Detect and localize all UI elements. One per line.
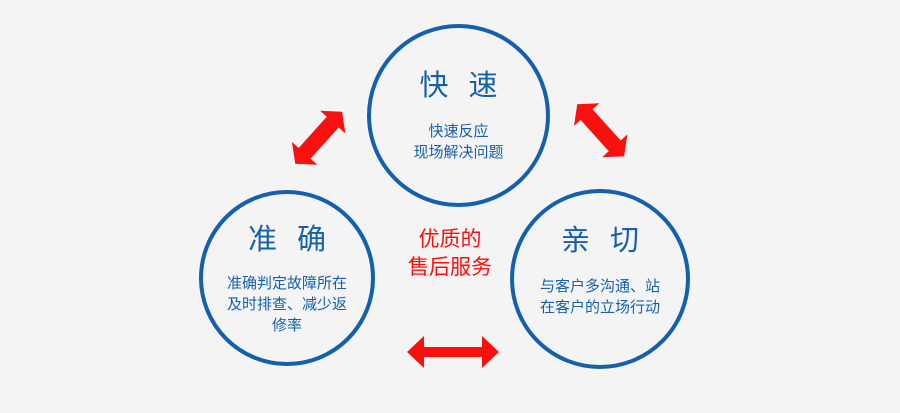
double-arrow-diagonal-up-right-icon: [286, 93, 358, 175]
node-fast: 快 速 快速反应 现场解决问题: [367, 24, 550, 207]
node-friendly: 亲 切 与客户多沟通、站 在客户的立场行动: [510, 189, 690, 369]
double-arrow-diagonal-down-right-icon: [568, 93, 640, 175]
node-fast-description: 快速反应 现场解决问题: [413, 121, 503, 163]
node-accurate: 准 确 准确判定故障所在 及时排查、减少返 修率: [199, 190, 375, 366]
service-quality-cycle-diagram: 快 速 快速反应 现场解决问题 准 确 准确判定故障所在 及时排查、减少返 修率…: [0, 0, 900, 413]
node-friendly-description: 与客户多沟通、站 在客户的立场行动: [540, 276, 660, 318]
node-accurate-description: 准确判定故障所在 及时排查、减少返 修率: [227, 273, 347, 336]
node-friendly-title: 亲 切: [555, 227, 645, 256]
center-label: 优质的 售后服务: [390, 226, 510, 282]
node-fast-title: 快 速: [413, 72, 503, 101]
double-arrow-horizontal-icon: [404, 327, 502, 377]
node-accurate-title: 准 确: [242, 226, 332, 255]
